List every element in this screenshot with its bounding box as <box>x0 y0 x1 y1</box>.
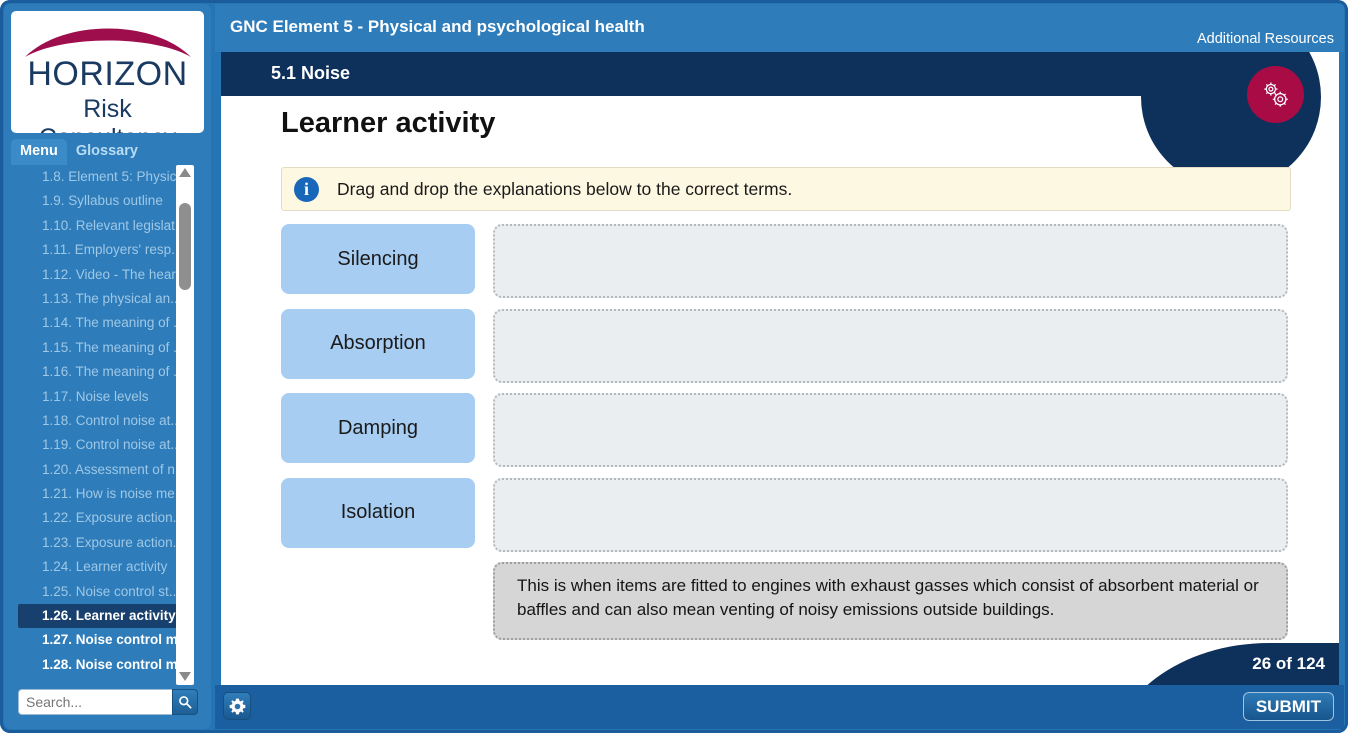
menu-item[interactable]: 1.26. Learner activity <box>18 604 186 628</box>
drag-drop-row: Damping <box>281 393 1339 478</box>
term-tile[interactable]: Isolation <box>281 478 475 548</box>
bottom-bar: SUBMIT <box>215 685 1344 729</box>
scroll-down-icon[interactable] <box>179 672 191 682</box>
drag-drop-row: Silencing <box>281 224 1339 309</box>
menu-item[interactable]: 1.16. The meaning of ... <box>18 360 186 384</box>
menu-item[interactable]: 1.25. Noise control st... <box>18 580 186 604</box>
menu-item[interactable]: 1.23. Exposure action... <box>18 531 186 555</box>
section-title: 5.1 Noise <box>271 63 350 84</box>
menu-list: 1.8. Element 5: Physic...1.9. Syllabus o… <box>18 165 186 677</box>
info-icon: i <box>294 177 319 202</box>
menu-item[interactable]: 1.24. Learner activity <box>18 555 186 579</box>
menu-item[interactable]: 1.10. Relevant legislat... <box>18 214 186 238</box>
menu-item[interactable]: 1.12. Video - The hear... <box>18 263 186 287</box>
search-button[interactable] <box>172 689 198 715</box>
course-title: GNC Element 5 - Physical and psychologic… <box>230 17 645 37</box>
menu-item[interactable]: 1.9. Syllabus outline <box>18 189 186 213</box>
additional-resources-link[interactable]: Additional Resources <box>1197 31 1334 47</box>
elearning-app-window: HORIZON Risk Consultancy Menu Glossary 1… <box>0 0 1348 733</box>
drop-zone[interactable] <box>493 393 1288 467</box>
menu-item[interactable]: 1.27. Noise control m... <box>18 628 186 652</box>
page-title: Learner activity <box>281 107 495 140</box>
menu-item[interactable]: 1.28. Noise control m... <box>18 653 186 677</box>
additional-resources-button[interactable] <box>1247 66 1304 123</box>
sidebar-tabs: Menu Glossary <box>11 139 204 165</box>
scrollbar-thumb[interactable] <box>179 203 191 290</box>
drop-zone[interactable] <box>493 309 1288 383</box>
drop-zone[interactable] <box>493 478 1288 552</box>
gear-icon <box>229 698 246 715</box>
menu-scrollbar[interactable] <box>176 165 194 685</box>
top-bar: GNC Element 5 - Physical and psychologic… <box>215 4 1344 52</box>
answer-text: This is when items are fitted to engines… <box>517 574 1268 621</box>
section-bar <box>221 52 1231 96</box>
search-input[interactable] <box>18 689 172 715</box>
menu-item[interactable]: 1.13. The physical an... <box>18 287 186 311</box>
instruction-text: Drag and drop the explanations below to … <box>337 179 792 200</box>
settings-button[interactable] <box>223 692 251 720</box>
menu-item[interactable]: 1.14. The meaning of ... <box>18 311 186 335</box>
draggable-answer-card[interactable]: This is when items are fitted to engines… <box>493 562 1288 640</box>
content-region: GNC Element 5 - Physical and psychologic… <box>215 4 1344 729</box>
company-logo: HORIZON Risk Consultancy <box>11 11 204 133</box>
page-counter: 26 of 124 <box>1252 654 1325 674</box>
term-tile[interactable]: Absorption <box>281 309 475 379</box>
menu-item[interactable]: 1.11. Employers' resp... <box>18 238 186 262</box>
tab-menu[interactable]: Menu <box>11 139 67 165</box>
gears-icon <box>1259 78 1293 112</box>
drop-zone[interactable] <box>493 224 1288 298</box>
sidebar: HORIZON Risk Consultancy Menu Glossary 1… <box>4 4 211 729</box>
term-tile[interactable]: Damping <box>281 393 475 463</box>
search-box <box>18 689 198 715</box>
drag-drop-row: Absorption <box>281 309 1339 394</box>
scroll-up-icon[interactable] <box>179 168 191 178</box>
menu-item[interactable]: 1.8. Element 5: Physic... <box>18 165 186 189</box>
menu-item[interactable]: 1.18. Control noise at... <box>18 409 186 433</box>
instruction-banner: i Drag and drop the explanations below t… <box>281 167 1291 211</box>
submit-button[interactable]: SUBMIT <box>1243 692 1334 721</box>
slide-page: 5.1 Noise Learner activity i Drag an <box>221 52 1339 685</box>
search-icon <box>178 695 192 709</box>
menu-item[interactable]: 1.15. The meaning of ... <box>18 336 186 360</box>
drag-drop-area: SilencingAbsorptionDampingIsolationThis … <box>281 224 1339 652</box>
menu-item[interactable]: 1.19. Control noise at... <box>18 433 186 457</box>
logo-primary-text: HORIZON <box>11 55 204 94</box>
menu-item[interactable]: 1.22. Exposure action... <box>18 506 186 530</box>
menu-item[interactable]: 1.20. Assessment of n... <box>18 458 186 482</box>
drag-drop-row: Isolation <box>281 478 1339 563</box>
logo-secondary-text: Risk Consultancy <box>11 95 204 133</box>
menu-item[interactable]: 1.21. How is noise me... <box>18 482 186 506</box>
menu-item[interactable]: 1.17. Noise levels <box>18 385 186 409</box>
logo-arc-icon <box>23 23 193 59</box>
tab-glossary[interactable]: Glossary <box>67 139 147 165</box>
term-tile[interactable]: Silencing <box>281 224 475 294</box>
page-counter-shell: 26 of 124 <box>1109 639 1339 685</box>
